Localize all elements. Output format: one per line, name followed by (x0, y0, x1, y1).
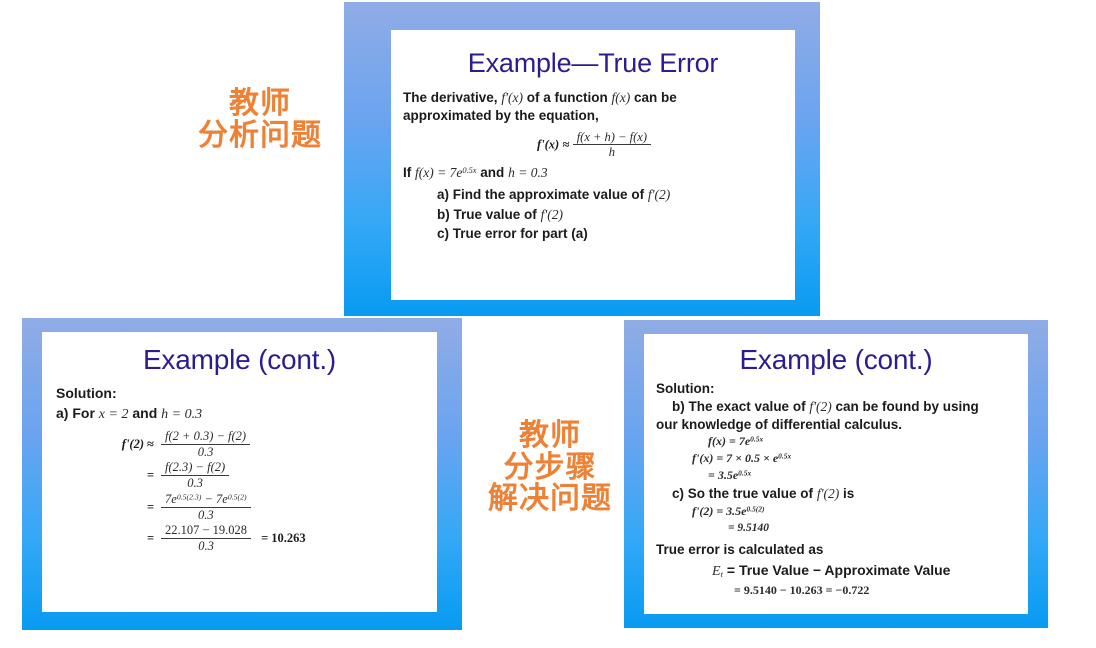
list-item: b) True value of f'(2) (437, 205, 785, 225)
true-error-subscript: t (721, 568, 723, 578)
part-c-text-b: is (843, 486, 854, 501)
part-c-math: f'(2) (817, 486, 839, 501)
equation-lhs: f'(x) ≈ (537, 137, 569, 151)
step-operator: ≈ (147, 436, 161, 453)
true-error-rhs: = True Value − Approximate Value (727, 562, 951, 578)
item-marker: c) (437, 226, 449, 241)
if-function: f(x) = 7e0.5x (415, 165, 477, 180)
list-item: a) Find the approximate value of f'(2) (437, 185, 785, 205)
step-denominator: 0.3 (161, 539, 251, 554)
step-fraction: f(2 + 0.3) − f(2)0.3 (161, 429, 250, 460)
part-c-line: c) So the true value of f'(2) is (672, 485, 1020, 503)
part-a-x: x = 2 (99, 407, 129, 422)
task-list: a) Find the approximate value of f'(2) b… (437, 185, 785, 244)
true-error-formula: Et = True Value − Approximate Value (712, 561, 1020, 581)
step-numerator: f(2.3) − f(2) (161, 460, 229, 476)
step-operator: = (147, 499, 161, 516)
equation-simpl-exponent: 0.5x (738, 469, 751, 478)
equation-simpl-base: = 3.5e (708, 468, 738, 482)
annotation-teacher-stepwise: 教师 分步骤 解决问题 (460, 420, 640, 515)
slide-br-body: Solution: b) The exact value of f'(2) ca… (644, 380, 1028, 599)
slide-bottom-right-content: Example (cont.) Solution: b) The exact v… (644, 334, 1028, 614)
slide-example-cont-bc[interactable]: Example (cont.) Solution: b) The exact v… (624, 320, 1048, 628)
step-fraction: 22.107 − 19.0280.3 (161, 523, 251, 554)
step-numerator: f(2 + 0.3) − f(2) (161, 429, 250, 445)
derivation-step: f'(2)≈f(2 + 0.3) − f(2)0.3 (100, 429, 427, 460)
part-b-line-2: our knowledge of differential calculus. (656, 416, 1020, 434)
step-operator: = (147, 467, 161, 484)
num-exp: 0.5(2) (228, 492, 247, 501)
annotation-teacher-analyze: 教师 分析问题 (170, 88, 350, 151)
step-denominator: 0.3 (161, 476, 229, 491)
equation-fx-base: f(x) = 7e (708, 434, 750, 448)
item-text: True error for part (a) (453, 226, 588, 241)
step-denominator: 0.3 (161, 445, 250, 460)
step-lead: f'(2) (100, 436, 147, 453)
part-a-text-2: and (132, 405, 157, 421)
equation-fprime-x: f'(x) = 7 × 0.5 × e0.5x (692, 451, 1020, 467)
slide-bottom-left-content: Example (cont.) Solution: a) For x = 2 a… (42, 332, 437, 612)
item-math: f'(2) (648, 187, 670, 202)
item-marker: a) (437, 187, 449, 202)
derivation-step: =7e0.5(2.3) − 7e0.5(2)0.3 (100, 492, 427, 523)
if-function-base: f(x) = 7e (415, 165, 462, 180)
page-title-bottom-left: Example (cont.) (42, 344, 437, 376)
intro-text-b: of a function (527, 90, 608, 105)
equation-fx: f(x) = 7e0.5x (708, 434, 1020, 450)
derivation-step: =22.107 − 19.0280.3= 10.263 (100, 523, 427, 554)
equation-fx-exponent: 0.5x (750, 435, 763, 444)
true-error-result: = 9.5140 − 10.263 = −0.722 (734, 583, 1020, 599)
part-b-text-a: The exact value of (689, 399, 806, 414)
solution-label: Solution: (656, 380, 1020, 398)
part-b-marker: b) (672, 399, 685, 414)
if-and: and (480, 165, 504, 180)
slide-bl-body: Solution: a) For x = 2 and h = 0.3 f'(2)… (42, 384, 437, 554)
step-numerator: 22.107 − 19.028 (161, 523, 251, 539)
part-c-text-a: So the true value of (688, 486, 813, 501)
part-b-text-b: can be found by using (835, 399, 978, 414)
difference-quotient-equation: f'(x) ≈ f(x + h) − f(x) h (403, 130, 785, 161)
step-numerator: 7e0.5(2.3) − 7e0.5(2) (161, 492, 251, 508)
num-exp: 0.5(2.3) (177, 492, 202, 501)
item-text: Find the approximate value of (453, 187, 644, 202)
intro-text-a: The derivative, (403, 90, 498, 105)
part-a-line: a) For x = 2 and h = 0.3 (56, 404, 427, 424)
num-part: 7e (165, 492, 177, 506)
step-operator: = (147, 530, 161, 547)
equation-fprime-simplified: = 3.5e0.5x (708, 468, 1020, 484)
item-text: True value of (454, 207, 537, 222)
annotation-line: 教师 (170, 88, 350, 120)
equation-fpx-base: f'(x) = 7 × 0.5 × e (692, 451, 778, 465)
solution-label: Solution: (56, 384, 427, 402)
intro-fx: f(x) (611, 90, 630, 105)
num-part: − 7e (201, 492, 227, 506)
annotation-line: 解决问题 (460, 483, 640, 515)
equation-fpx-exponent: 0.5x (778, 452, 791, 461)
derivation-block: f'(2)≈f(2 + 0.3) − f(2)0.3 =f(2.3) − f(2… (100, 429, 427, 554)
intro-fprime-x: f'(x) (501, 90, 523, 105)
step-fraction: 7e0.5(2.3) − 7e0.5(2)0.3 (161, 492, 251, 523)
part-a-marker: a) (56, 405, 68, 421)
if-function-exponent: 0.5x (462, 166, 476, 175)
equation-denominator: h (573, 145, 651, 160)
step-result: = 10.263 (261, 531, 306, 545)
annotation-line: 分步骤 (460, 452, 640, 484)
step-denominator: 0.3 (161, 508, 251, 523)
slide-top-body: The derivative, f'(x) of a function f(x)… (391, 89, 795, 244)
true-error-symbol: E (712, 564, 721, 579)
step-fraction: f(2.3) − f(2)0.3 (161, 460, 229, 491)
equation-f2-value: = 9.5140 (728, 521, 1020, 536)
equation-f2-exponent: 0.5(2) (747, 504, 765, 513)
part-c-marker: c) (672, 486, 684, 501)
item-marker: b) (437, 207, 450, 222)
top-intro-line: The derivative, f'(x) of a function f(x)… (403, 89, 785, 107)
slide-example-cont-a[interactable]: Example (cont.) Solution: a) For x = 2 a… (22, 318, 462, 630)
part-b-line-1: b) The exact value of f'(2) can be found… (672, 398, 1020, 416)
annotation-line: 教师 (460, 420, 640, 452)
part-a-h: h = 0.3 (161, 407, 202, 422)
part-b-math: f'(2) (809, 399, 831, 414)
page-title-bottom-right: Example (cont.) (644, 344, 1028, 376)
given-conditions-line: If f(x) = 7e0.5x and h = 0.3 (403, 164, 785, 182)
item-math: f'(2) (541, 207, 563, 222)
page-title-top: Example—True Error (391, 48, 795, 79)
equation-f2-base: f'(2) = 3.5e (692, 504, 747, 518)
true-error-label: True error is calculated as (656, 541, 1020, 559)
list-item: c) True error for part (a) (437, 224, 785, 244)
equation-fraction: f(x + h) − f(x) h (573, 130, 651, 161)
if-label: If (403, 165, 411, 180)
equation-numerator: f(x + h) − f(x) (573, 130, 651, 146)
slide-top-content: Example—True Error The derivative, f'(x)… (391, 30, 795, 300)
derivation-step: =f(2.3) − f(2)0.3 (100, 460, 427, 491)
if-h-value: h = 0.3 (508, 165, 548, 180)
intro-text-c: can be (634, 90, 677, 105)
top-intro-line2: approximated by the equation, (403, 107, 785, 125)
part-a-text-1: For (72, 405, 95, 421)
equation-f2-true: f'(2) = 3.5e0.5(2) (692, 504, 1020, 520)
slide-example-true-error[interactable]: Example—True Error The derivative, f'(x)… (344, 2, 820, 316)
annotation-line: 分析问题 (170, 120, 350, 152)
